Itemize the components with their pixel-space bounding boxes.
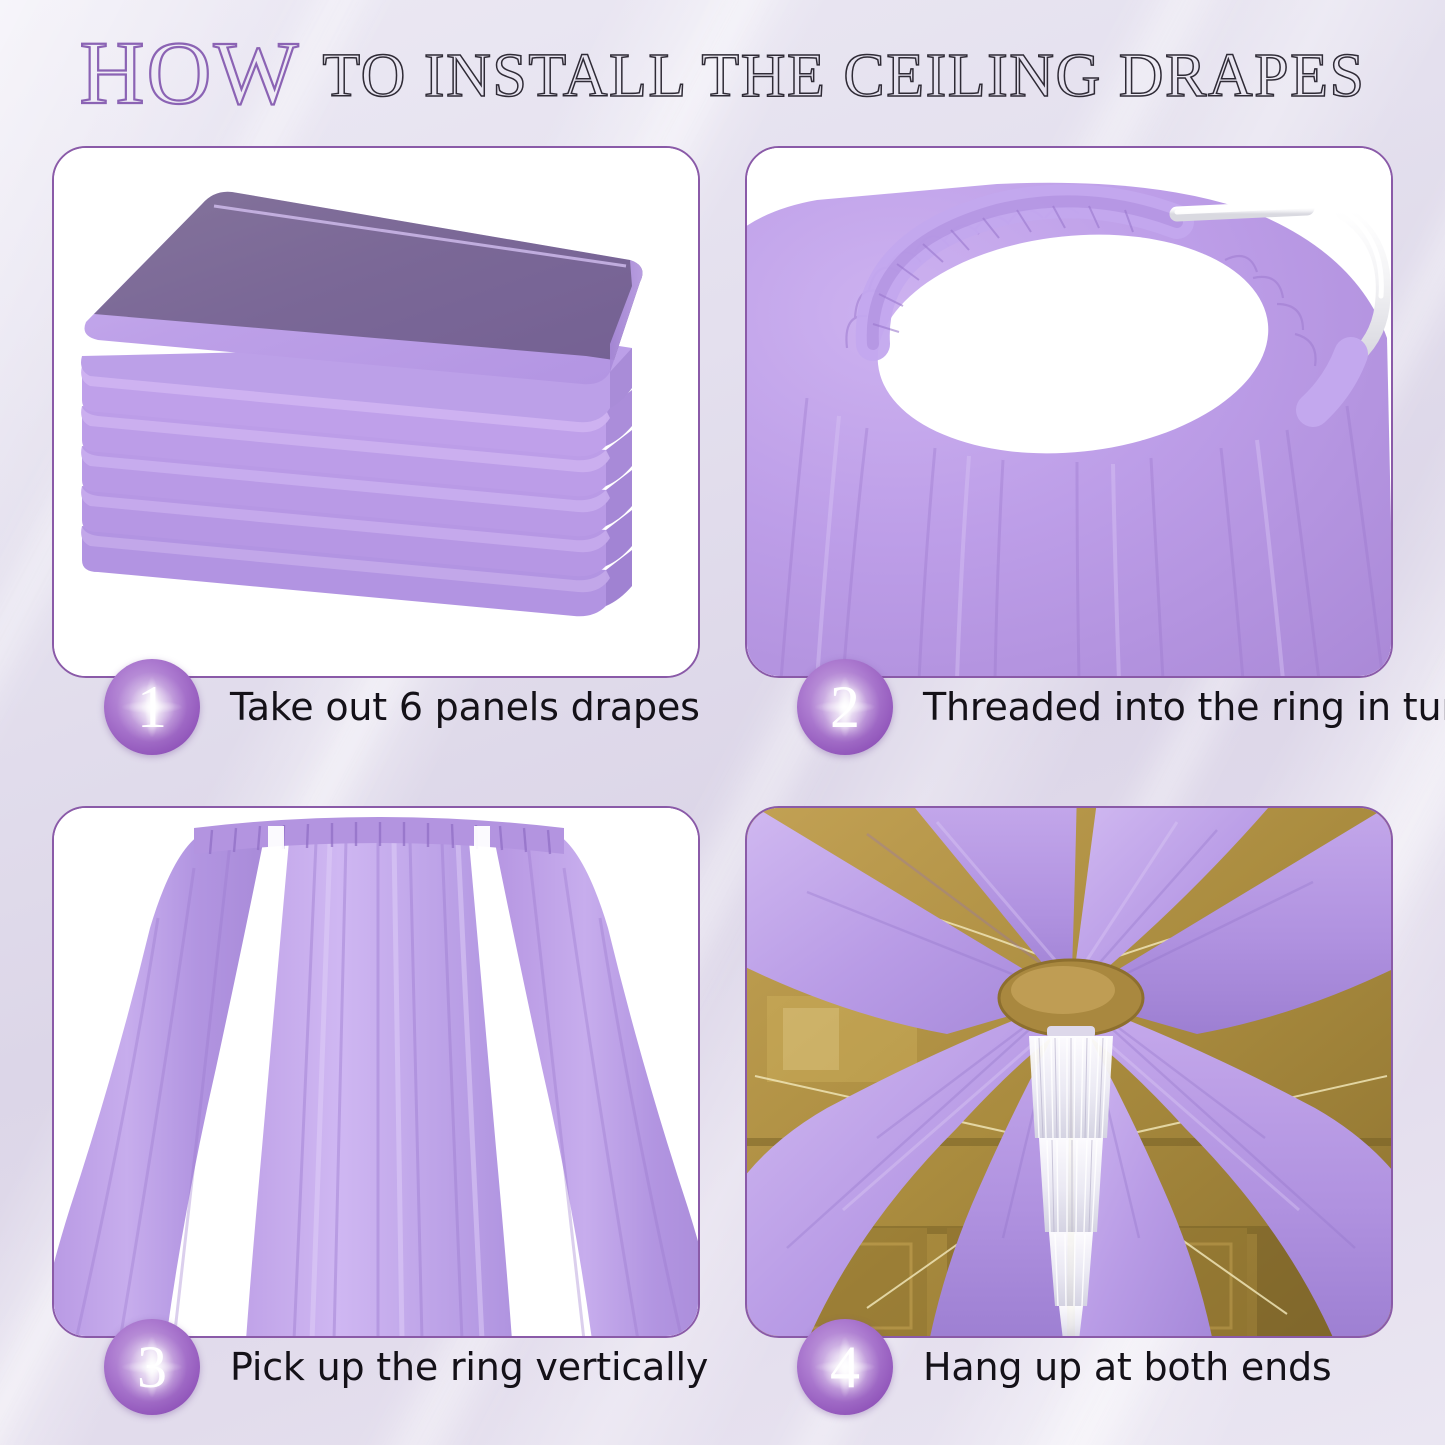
step-number-badge: 2 — [797, 659, 893, 755]
infographic-poster: HOW TO INSTALL THE CEILING DRAPES — [0, 0, 1445, 1445]
step-caption: Hang up at both ends — [923, 1345, 1332, 1389]
step-caption: Take out 6 panels drapes — [230, 685, 700, 729]
threaded-ring-svg — [747, 148, 1393, 678]
step-number-label: 2 — [830, 677, 860, 737]
step-4-row: 4 Hang up at both ends — [797, 1312, 1332, 1422]
title-accent-word: HOW — [79, 29, 300, 119]
title-rest-text: TO INSTALL THE CEILING DRAPES — [322, 45, 1365, 107]
vertical-drape-illustration — [54, 808, 698, 1336]
step-1-row: 1 Take out 6 panels drapes — [104, 652, 700, 762]
step-3-row: 3 Pick up the ring vertically — [104, 1312, 708, 1422]
step-3-image-card — [52, 806, 700, 1338]
hanging-drape-svg — [54, 808, 700, 1338]
step-2-row: 2 Threaded into the ring in turn — [797, 652, 1445, 762]
ring-threading-illustration — [747, 148, 1391, 676]
step-caption: Threaded into the ring in turn — [923, 685, 1445, 729]
folded-panels-illustration — [54, 148, 698, 676]
step-caption: Pick up the ring vertically — [230, 1345, 708, 1389]
step-number-badge: 3 — [104, 1319, 200, 1415]
folded-panels-svg — [54, 148, 700, 678]
step-4-image-card — [745, 806, 1393, 1338]
step-number-badge: 1 — [104, 659, 200, 755]
step-1-image-card — [52, 146, 700, 678]
step-2-image-card — [745, 146, 1393, 678]
ceiling-drapes-svg — [747, 808, 1391, 1336]
page-title: HOW TO INSTALL THE CEILING DRAPES — [0, 24, 1445, 120]
installed-ceiling-illustration — [747, 808, 1391, 1336]
step-number-label: 4 — [830, 1337, 860, 1397]
step-number-badge: 4 — [797, 1319, 893, 1415]
step-number-label: 3 — [137, 1337, 167, 1397]
step-number-label: 1 — [137, 677, 167, 737]
